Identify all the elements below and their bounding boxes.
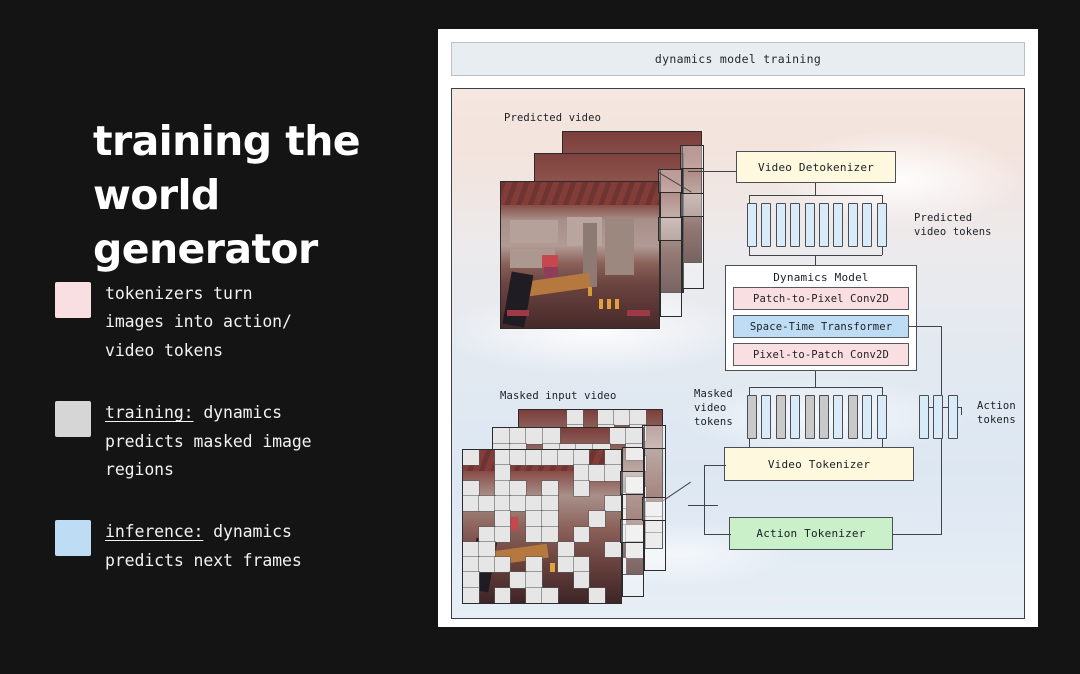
diagram-header: dynamics model training <box>451 42 1025 76</box>
masked-patch <box>558 450 574 465</box>
list-item: inference: dynamics predicts next frames <box>55 518 435 575</box>
masked-patch <box>463 572 479 587</box>
visible-patch <box>574 542 590 557</box>
masked-input-video-label: Masked input video <box>500 389 617 403</box>
visible-patch <box>479 572 495 587</box>
visible-patch <box>510 527 526 542</box>
masked-patch <box>526 496 542 511</box>
masked-patch <box>510 572 526 587</box>
predicted-video-tokens-row <box>747 203 887 247</box>
connector-line <box>815 183 816 195</box>
visible-patch <box>646 410 662 425</box>
connector-line <box>882 439 883 447</box>
masked-patch <box>542 588 558 603</box>
predicted-depth-strip <box>680 193 704 217</box>
masked-patch <box>574 481 590 496</box>
masked-patch <box>510 481 526 496</box>
action-tokens-label: Action tokens <box>977 399 1016 427</box>
visible-patch <box>574 588 590 603</box>
predicted-video-token <box>747 203 757 247</box>
visible-patch <box>605 481 621 496</box>
page-title: training the world generator <box>93 114 423 276</box>
masked-patch <box>510 428 527 444</box>
visible-patch <box>583 410 599 425</box>
connector-line <box>815 371 816 387</box>
visible-patch <box>479 588 495 603</box>
dynamics-layer-label: Space-Time Transformer <box>750 321 892 333</box>
visible-patch <box>463 465 479 480</box>
predicted-depth-strip <box>658 169 682 193</box>
masked-patch <box>479 557 495 572</box>
visible-patch <box>526 481 542 496</box>
video-tokenizer-label: Video Tokenizer <box>768 458 870 471</box>
connector-line <box>749 439 750 447</box>
masked-patch <box>526 450 542 465</box>
visible-patch <box>542 465 558 480</box>
visible-patch <box>479 481 495 496</box>
visible-patch <box>551 410 567 425</box>
dynamics-model-title: Dynamics Model <box>726 266 916 284</box>
masked-patch <box>495 465 511 480</box>
predicted-video-token <box>833 203 843 247</box>
connector-line <box>749 387 750 395</box>
title-line-1: training the <box>93 114 423 168</box>
visible-patch <box>589 557 605 572</box>
masked-patch <box>495 557 511 572</box>
predicted-video-token <box>790 203 800 247</box>
masked-patch <box>574 465 590 480</box>
visible-patch <box>605 588 621 603</box>
connector-line <box>749 195 882 196</box>
masked-patch <box>589 588 605 603</box>
action-tokenizer-box[interactable]: Action Tokenizer <box>729 517 893 550</box>
masked-patch <box>574 450 590 465</box>
masked-video-token <box>833 395 843 439</box>
visible-patch <box>510 542 526 557</box>
action-tokenizer-label: Action Tokenizer <box>756 527 865 540</box>
masked-patch <box>510 450 526 465</box>
dynamics-layer-patch-to-pixel[interactable]: Patch-to-Pixel Conv2D <box>733 287 909 310</box>
connector-line <box>749 247 750 255</box>
connector-line <box>961 407 962 415</box>
visible-patch <box>574 496 590 511</box>
visible-patch <box>463 511 479 526</box>
diagram-panel: dynamics model training Predicted video <box>438 29 1038 627</box>
masked-depth-strip <box>642 425 666 449</box>
diagram-header-label: dynamics model training <box>655 52 821 66</box>
masked-frame-front <box>462 449 622 604</box>
predicted-video-token <box>848 203 858 247</box>
visible-patch <box>576 428 593 444</box>
visible-patch <box>558 588 574 603</box>
video-detokenizer-label: Video Detokenizer <box>758 161 874 174</box>
connector-line <box>749 387 882 388</box>
dynamics-layer-pixel-to-patch[interactable]: Pixel-to-Patch Conv2D <box>733 343 909 366</box>
masked-patch <box>495 450 511 465</box>
connector-line <box>882 387 883 395</box>
bullet-lead: inference: <box>105 522 203 541</box>
connector-line <box>882 247 883 255</box>
visible-patch <box>558 511 574 526</box>
masked-patch <box>542 481 558 496</box>
title-line-2: world generator <box>93 168 423 276</box>
connector-line <box>882 195 883 203</box>
masked-patch <box>574 527 590 542</box>
visible-patch <box>542 572 558 587</box>
masked-patch <box>558 542 574 557</box>
visible-patch <box>495 542 511 557</box>
predicted-video-token <box>877 203 887 247</box>
visible-patch <box>593 428 610 444</box>
connector-line <box>941 439 942 534</box>
visible-patch <box>589 572 605 587</box>
masked-patch <box>493 428 510 444</box>
masked-patch <box>526 511 542 526</box>
masked-patch <box>463 588 479 603</box>
masked-patch <box>605 465 621 480</box>
predicted-video-token <box>819 203 829 247</box>
predicted-video-label: Predicted video <box>504 111 601 125</box>
masked-patch <box>605 542 621 557</box>
visible-patch <box>589 450 605 465</box>
bullet-text: training: dynamics predicts masked image… <box>105 399 312 484</box>
masked-video-token <box>747 395 757 439</box>
slide-root: training the world generator tokenizers … <box>0 0 1080 674</box>
dynamics-layer-space-time-transformer[interactable]: Space-Time Transformer <box>733 315 909 338</box>
masked-patch <box>605 496 621 511</box>
bullet-text: tokenizers turn images into action/ vide… <box>105 280 292 365</box>
action-token <box>919 395 929 439</box>
visible-patch <box>558 481 574 496</box>
visible-patch <box>510 557 526 572</box>
masked-patch <box>463 542 479 557</box>
masked-patch <box>542 450 558 465</box>
action-token <box>933 395 943 439</box>
masked-patch <box>495 496 511 511</box>
action-tokens-row <box>919 395 958 439</box>
blue-swatch <box>55 520 91 556</box>
visible-patch <box>605 557 621 572</box>
visible-patch <box>589 542 605 557</box>
bullet-body: tokenizers turn images into action/ vide… <box>105 284 292 360</box>
visible-patch <box>535 410 551 425</box>
dynamics-layer-label: Pixel-to-Patch Conv2D <box>753 349 889 361</box>
visible-patch <box>479 465 495 480</box>
masked-video-token <box>862 395 872 439</box>
visible-patch <box>542 557 558 572</box>
action-token <box>948 395 958 439</box>
masked-patch <box>495 527 511 542</box>
visible-patch <box>463 527 479 542</box>
connector-line <box>749 195 750 203</box>
visible-patch <box>495 572 511 587</box>
masked-patch <box>630 410 646 425</box>
connector-line <box>909 326 941 327</box>
masked-patch <box>526 527 542 542</box>
bullet-list: tokenizers turn images into action/ vide… <box>55 280 435 609</box>
masked-patch <box>543 428 560 444</box>
masked-patch <box>495 588 511 603</box>
masked-patch <box>542 511 558 526</box>
masked-video-token <box>776 395 786 439</box>
visible-patch <box>510 465 526 480</box>
masked-depth-strip <box>620 471 644 495</box>
masked-patch <box>542 527 558 542</box>
masked-patch <box>558 557 574 572</box>
visible-patch <box>479 450 495 465</box>
masked-patch <box>526 588 542 603</box>
masked-video-tokens-row <box>747 395 887 439</box>
visible-patch <box>558 527 574 542</box>
masked-patch <box>510 496 526 511</box>
visible-patch <box>605 527 621 542</box>
masked-depth-strip <box>620 519 644 543</box>
visible-patch <box>526 465 542 480</box>
connector-line <box>704 465 726 466</box>
masked-patch <box>526 557 542 572</box>
masked-video-token <box>819 395 829 439</box>
left-column: training the world generator tokenizers … <box>0 0 440 674</box>
predicted-frame-front <box>500 181 660 329</box>
masked-video-token <box>805 395 815 439</box>
masked-patch <box>542 496 558 511</box>
diagram-canvas: Predicted video <box>451 88 1025 619</box>
masked-video-token <box>761 395 771 439</box>
masked-input-video-stack <box>462 409 697 609</box>
predicted-video-tokens-label: Predicted video tokens <box>914 211 992 239</box>
predicted-depth-strip <box>680 145 704 169</box>
masked-patch <box>463 450 479 465</box>
visible-patch <box>605 511 621 526</box>
connector-line <box>815 255 816 265</box>
connector-line <box>704 534 731 535</box>
video-detokenizer-box[interactable]: Video Detokenizer <box>736 151 896 183</box>
visible-patch <box>510 588 526 603</box>
masked-video-token <box>790 395 800 439</box>
masked-patch <box>463 557 479 572</box>
visible-patch <box>526 542 542 557</box>
connector-line <box>704 465 705 535</box>
list-item: training: dynamics predicts masked image… <box>55 399 435 484</box>
masked-patch <box>479 542 495 557</box>
mask-grid <box>463 450 621 603</box>
masked-patch <box>463 481 479 496</box>
list-item: tokenizers turn images into action/ vide… <box>55 280 435 365</box>
masked-patch <box>495 481 511 496</box>
visible-patch <box>574 511 590 526</box>
masked-patch <box>614 410 630 425</box>
predicted-video-token <box>805 203 815 247</box>
visible-patch <box>560 428 577 444</box>
visible-patch <box>558 572 574 587</box>
gray-swatch <box>55 401 91 437</box>
bullet-lead: training: <box>105 403 194 422</box>
masked-depth-strip <box>642 497 666 521</box>
pink-swatch <box>55 282 91 318</box>
connector-line <box>688 171 736 172</box>
predicted-video-stack <box>500 131 715 306</box>
visible-patch <box>479 511 495 526</box>
masked-patch <box>626 428 643 444</box>
masked-patch <box>610 428 627 444</box>
bullet-text: inference: dynamics predicts next frames <box>105 518 302 575</box>
visible-patch <box>605 572 621 587</box>
predicted-video-token <box>862 203 872 247</box>
masked-patch <box>574 557 590 572</box>
masked-video-tokens-label: Masked video tokens <box>694 387 733 430</box>
connector-line <box>892 534 942 535</box>
masked-patch <box>598 410 614 425</box>
visible-patch <box>589 527 605 542</box>
masked-video-token <box>848 395 858 439</box>
masked-patch <box>495 511 511 526</box>
masked-patch <box>574 572 590 587</box>
video-tokenizer-box[interactable]: Video Tokenizer <box>724 447 914 481</box>
masked-patch <box>589 465 605 480</box>
masked-patch <box>463 496 479 511</box>
dynamics-layer-label: Patch-to-Pixel Conv2D <box>753 293 889 305</box>
masked-patch <box>526 572 542 587</box>
visible-patch <box>558 465 574 480</box>
masked-patch <box>526 428 543 444</box>
visible-patch <box>510 511 526 526</box>
masked-patch <box>605 450 621 465</box>
predicted-depth-strip <box>658 217 682 241</box>
visible-patch <box>589 496 605 511</box>
masked-patch <box>479 496 495 511</box>
visible-patch <box>519 410 535 425</box>
predicted-video-token <box>776 203 786 247</box>
visible-patch <box>589 481 605 496</box>
visible-patch <box>558 496 574 511</box>
visible-patch <box>542 542 558 557</box>
predicted-video-token <box>761 203 771 247</box>
masked-patch <box>479 527 495 542</box>
masked-video-token <box>877 395 887 439</box>
masked-patch <box>567 410 583 425</box>
masked-patch <box>589 511 605 526</box>
